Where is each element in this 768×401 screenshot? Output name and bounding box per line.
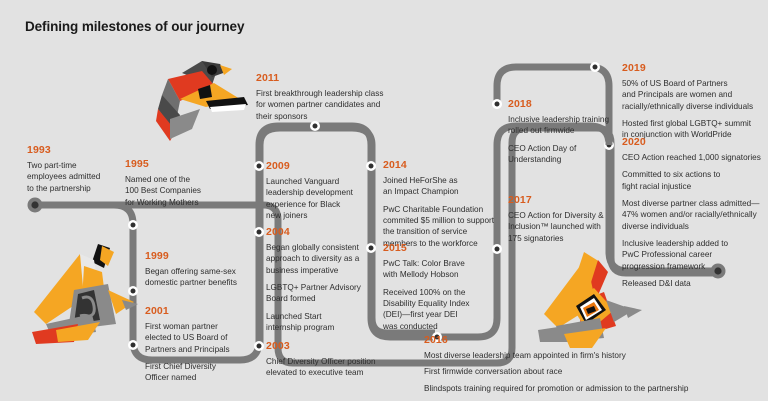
milestone-event: First woman partner elected to US Board …	[145, 321, 270, 355]
milestone-event: Most diverse leadership team appointed i…	[424, 350, 754, 361]
milestone-event: Two part-time employees admitted to the …	[27, 160, 137, 194]
milestone-2019: 2019 50% of US Board of Partners and Pri…	[622, 62, 768, 141]
milestone-event: CEO Action for Diversity & Inclusion™ la…	[508, 210, 633, 244]
milestone-year: 1993	[27, 144, 137, 156]
milestone-event: Began offering same-sex domestic partner…	[145, 266, 275, 289]
milestone-event: Launched Vanguard leadership development…	[266, 176, 386, 221]
infographic-canvas: Defining milestones of our journey	[0, 0, 768, 401]
milestone-event: Received 100% on the Disability Equality…	[383, 287, 503, 332]
milestone-year: 2018	[508, 98, 638, 110]
milestone-event: LGBTQ+ Partner Advisory Board formed	[266, 282, 386, 305]
milestone-2018: 2018 Inclusive leadership training rolle…	[508, 98, 638, 165]
milestone-event: PwC Talk: Color Brave with Mellody Hobso…	[383, 258, 503, 281]
milestone-year: 2014	[383, 159, 513, 171]
milestone-year: 1995	[125, 158, 245, 170]
milestone-year: 1999	[145, 250, 275, 262]
milestone-year: 2003	[266, 340, 426, 352]
milestone-year: 2020	[622, 136, 768, 148]
milestone-event: CEO Action reached 1,000 signatories	[622, 152, 768, 163]
milestone-2016: 2016 Most diverse leadership team appoin…	[424, 334, 754, 399]
milestone-year: 2017	[508, 194, 633, 206]
milestone-event: Most diverse partner class admitted— 47%…	[622, 198, 768, 232]
milestone-2020: 2020 CEO Action reached 1,000 signatorie…	[622, 136, 768, 289]
milestone-event: Chief Diversity Officer position elevate…	[266, 356, 426, 379]
milestone-event: Committed to six actions to fight racial…	[622, 169, 768, 192]
milestone-event: Joined HeForShe as an Impact Champion	[383, 175, 513, 198]
milestone-2017: 2017 CEO Action for Diversity & Inclusio…	[508, 194, 633, 244]
milestone-event: First breakthrough leadership class for …	[256, 88, 416, 122]
milestone-1995: 1995 Named one of the 100 Best Companies…	[125, 158, 245, 208]
milestone-event: First Chief Diversity Officer named	[145, 361, 270, 384]
milestone-2011: 2011 First breakthrough leadership class…	[256, 72, 416, 122]
bird-bottom-left-icon	[22, 238, 140, 350]
milestone-2015: 2015 PwC Talk: Color Brave with Mellody …	[383, 242, 503, 332]
milestone-event: Released D&I data	[622, 278, 768, 289]
milestone-event: Blindspots training required for promoti…	[424, 383, 754, 394]
milestone-2003: 2003 Chief Diversity Officer position el…	[266, 340, 426, 379]
milestone-year: 2015	[383, 242, 503, 254]
milestone-event: First firmwide conversation about race	[424, 366, 754, 377]
milestone-year: 2004	[266, 226, 386, 238]
milestone-year: 2011	[256, 72, 416, 84]
milestone-2001: 2001 First woman partner elected to US B…	[145, 305, 270, 384]
milestone-event: Named one of the 100 Best Companies for …	[125, 174, 245, 208]
milestone-event: CEO Action Day of Understanding	[508, 143, 638, 166]
milestone-2009: 2009 Launched Vanguard leadership develo…	[266, 160, 386, 221]
milestone-event: 50% of US Board of Partners and Principa…	[622, 78, 768, 112]
milestone-1993: 1993 Two part-time employees admitted to…	[27, 144, 137, 194]
milestone-event: Launched Start internship program	[266, 311, 386, 334]
milestone-year: 2016	[424, 334, 754, 346]
milestone-2004: 2004 Began globally consistent approach …	[266, 226, 386, 333]
milestone-event: Inclusive leadership training rolled out…	[508, 114, 638, 137]
milestone-year: 2019	[622, 62, 768, 74]
milestone-1999: 1999 Began offering same-sex domestic pa…	[145, 250, 275, 289]
milestone-year: 2009	[266, 160, 386, 172]
milestone-2014: 2014 Joined HeForShe as an Impact Champi…	[383, 159, 513, 249]
milestone-event: Inclusive leadership added to PwC Profes…	[622, 238, 768, 272]
bird-top-left-icon	[140, 55, 252, 147]
milestone-event: Began globally consistent approach to di…	[266, 242, 386, 276]
milestone-year: 2001	[145, 305, 270, 317]
